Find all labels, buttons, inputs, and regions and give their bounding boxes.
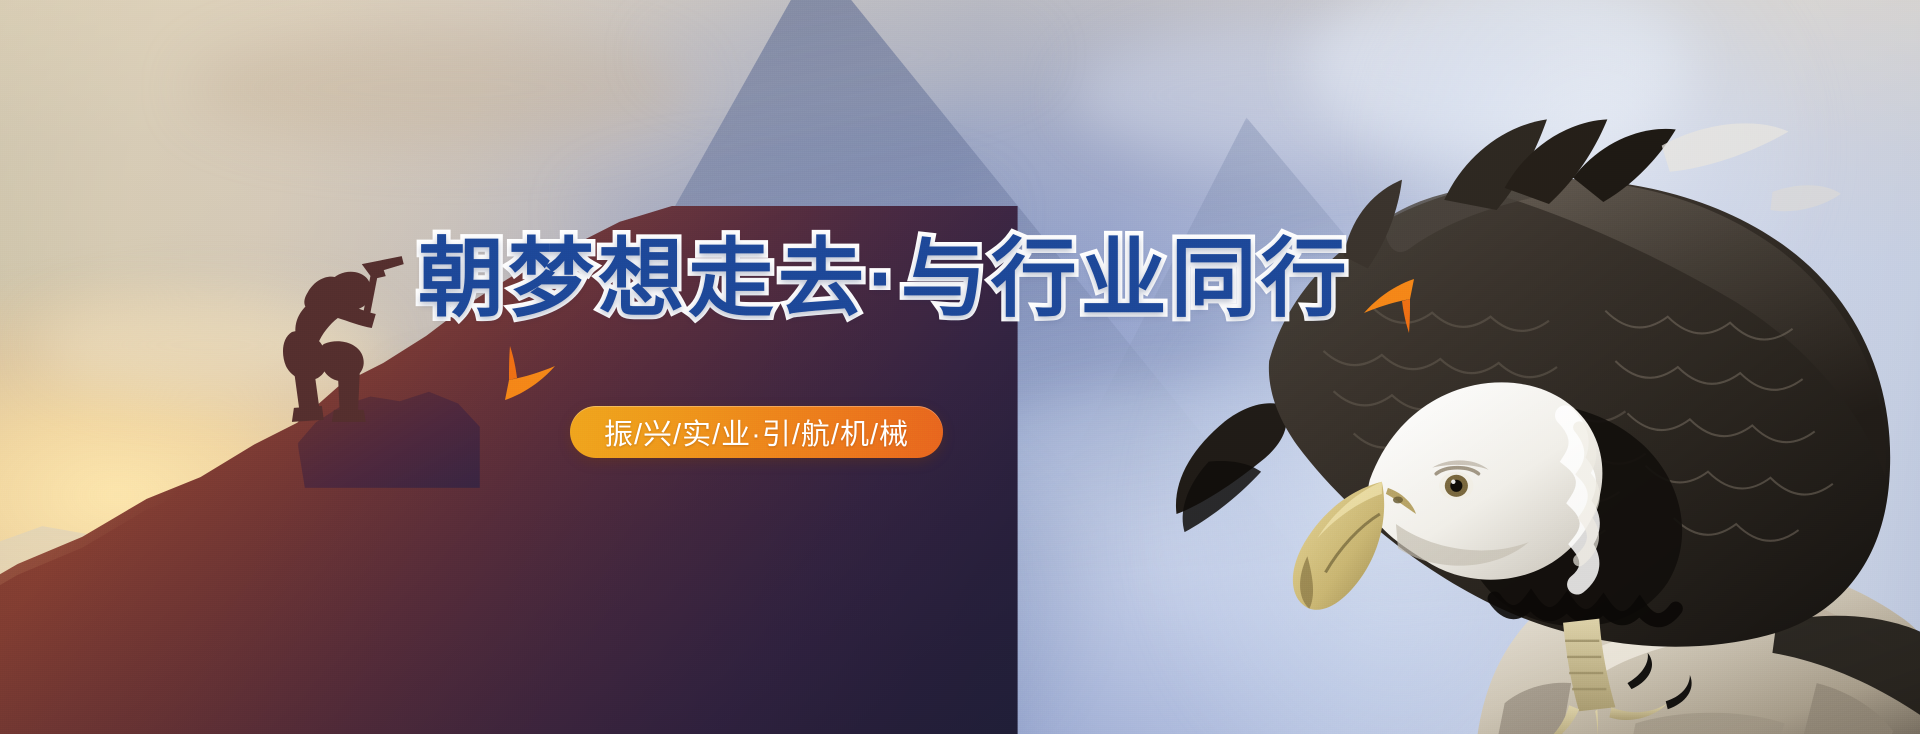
eagle-on-rock-illustration [1171,59,1920,734]
banner-headline: 朝梦想走去·与行业同行 [418,236,1351,322]
corner-bracket-right-icon [1360,277,1416,335]
corner-bracket-left-icon [503,344,559,402]
hero-banner: 朝梦想走去·与行业同行 振/兴/实/业·引/航/机/械 [0,0,1920,734]
subtitle-pill-text: 振/兴/实/业·引/航/机/械 [604,411,909,453]
beak [1293,481,1416,609]
subtitle-pill: 振/兴/实/业·引/航/机/械 [570,406,943,458]
climber-silhouette-icon [234,217,434,430]
